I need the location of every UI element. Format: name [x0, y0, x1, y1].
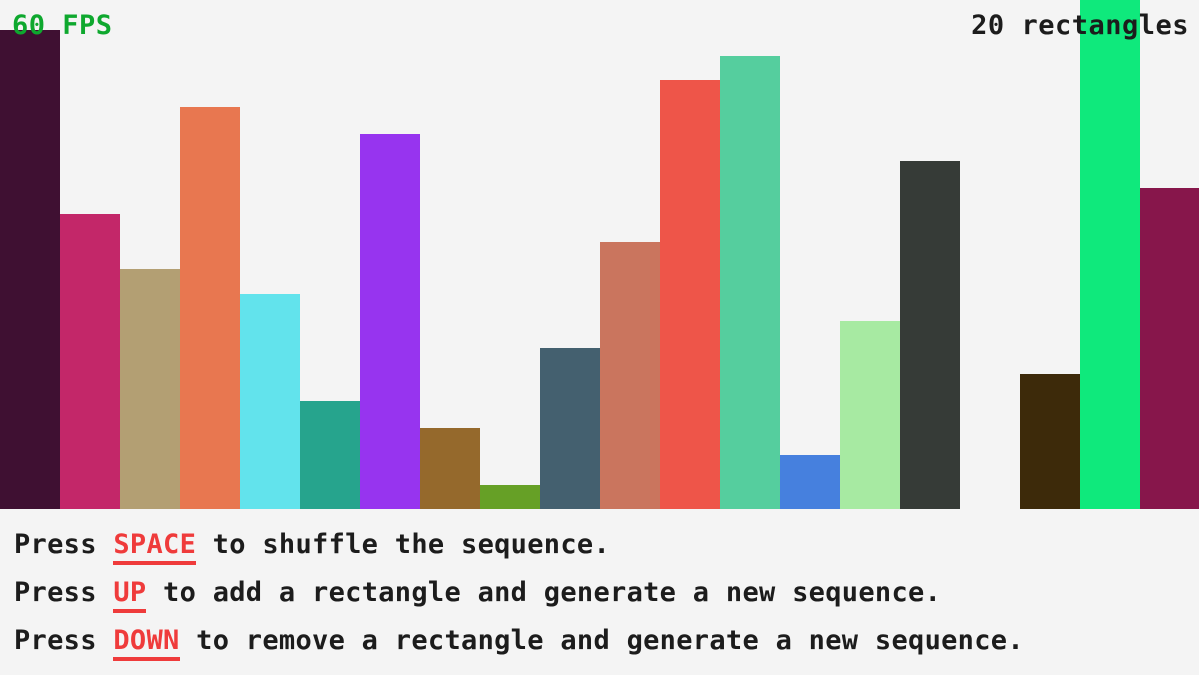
instruction-line-3: Press DOWN to remove a rectangle and gen…	[14, 617, 1199, 665]
bar-rectangle	[1020, 374, 1080, 509]
fps-counter: 60 FPS	[12, 11, 113, 41]
bar-rectangle	[180, 107, 240, 509]
instruction-suffix: to add a rectangle and generate a new se…	[146, 577, 941, 608]
rectangle-count-label: 20 rectangles	[971, 11, 1189, 41]
instruction-prefix: Press	[14, 577, 113, 608]
key-hint-up[interactable]: UP	[113, 577, 146, 613]
bar-rectangle	[1140, 188, 1199, 509]
bar-rectangle	[600, 242, 660, 509]
instruction-suffix: to shuffle the sequence.	[196, 529, 610, 560]
key-hint-space[interactable]: SPACE	[113, 529, 196, 565]
bar-rectangle	[720, 56, 780, 509]
instruction-suffix: to remove a rectangle and generate a new…	[180, 625, 1024, 656]
bar-rectangle	[60, 214, 120, 509]
bar-rectangle	[780, 455, 840, 509]
instruction-prefix: Press	[14, 625, 113, 656]
instruction-line-1: Press SPACE to shuffle the sequence.	[14, 521, 1199, 569]
bar-rectangle	[300, 401, 360, 509]
bar-rectangle	[420, 428, 480, 509]
instructions-panel: Press SPACE to shuffle the sequence.Pres…	[0, 509, 1199, 675]
bar-rectangle	[540, 348, 600, 509]
bar-rectangle	[0, 30, 60, 509]
instruction-prefix: Press	[14, 529, 113, 560]
instruction-line-2: Press UP to add a rectangle and generate…	[14, 569, 1199, 617]
bar-rectangle	[240, 294, 300, 509]
bar-rectangle	[840, 321, 900, 509]
bar-rectangle	[360, 134, 420, 509]
bar-rectangle	[660, 80, 720, 509]
bar-rectangle	[120, 269, 180, 509]
bar-rectangle	[480, 485, 540, 509]
bar-rectangle	[1080, 0, 1140, 509]
bar-rectangle	[900, 161, 960, 509]
bar-chart-canvas[interactable]	[0, 0, 1199, 509]
key-hint-down[interactable]: DOWN	[113, 625, 179, 661]
rectangle-sequence-app: 60 FPS 20 rectangles Press SPACE to shuf…	[0, 0, 1199, 675]
